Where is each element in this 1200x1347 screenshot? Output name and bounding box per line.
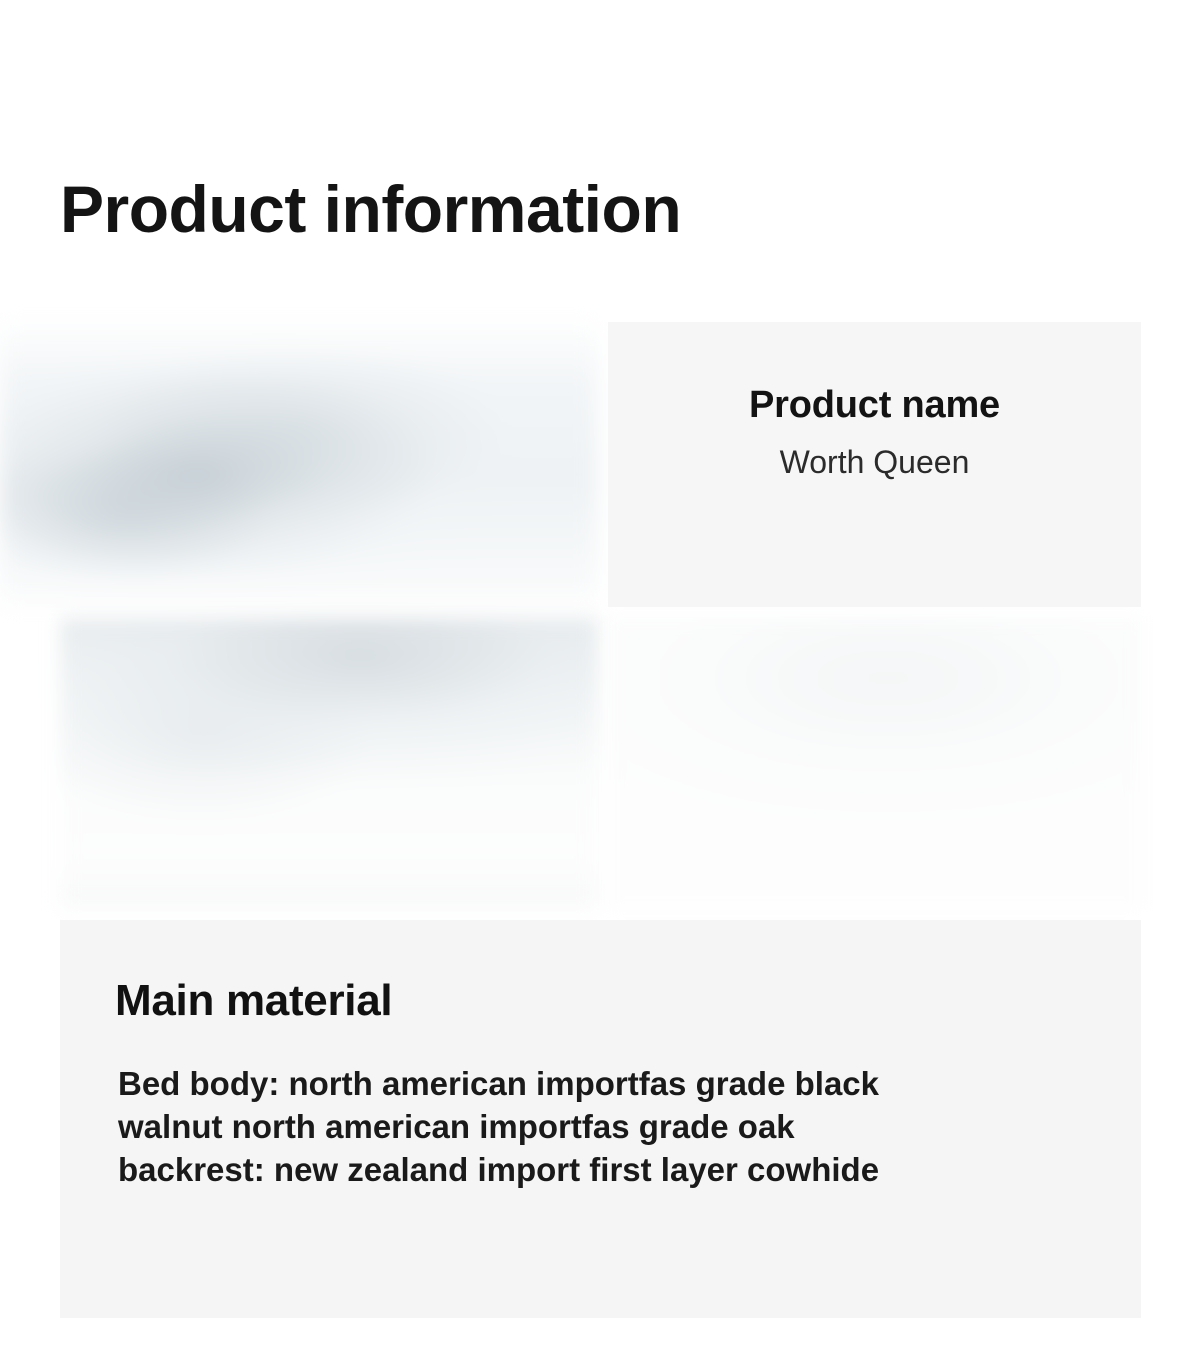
product-photo-3 xyxy=(608,618,1141,908)
product-name-cell: Product name Worth Queen xyxy=(608,322,1141,607)
spec-grid: Product name Worth Queen xyxy=(0,322,1141,908)
product-name-value: Worth Queen xyxy=(608,444,1141,481)
main-material-line: Bed body: north american importfas grade… xyxy=(118,1062,1108,1105)
main-material-panel: Main material Bed body: north american i… xyxy=(60,920,1141,1318)
product-photo-2 xyxy=(60,618,598,908)
main-material-line: walnut north american importfas grade oa… xyxy=(118,1105,1108,1148)
product-photo-1 xyxy=(0,322,598,607)
product-name-heading: Product name xyxy=(608,384,1141,427)
page-title: Product information xyxy=(60,176,681,242)
main-material-body: Bed body: north american importfas grade… xyxy=(118,1062,1108,1191)
main-material-heading: Main material xyxy=(115,976,392,1026)
main-material-line: backrest: new zealand import first layer… xyxy=(118,1148,1108,1191)
